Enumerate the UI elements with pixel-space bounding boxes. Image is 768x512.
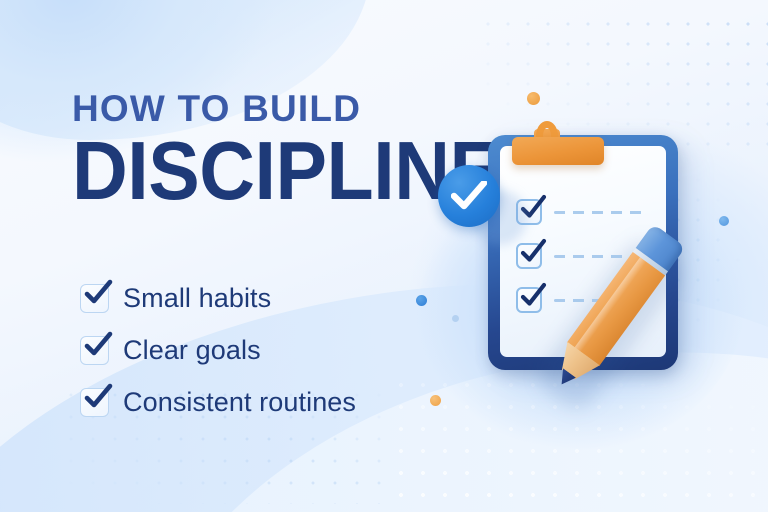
kicker-text: HOW TO BUILD bbox=[72, 90, 432, 127]
checkbox-icon bbox=[516, 243, 542, 269]
clipboard-clip bbox=[512, 137, 604, 165]
benefit-list: Small habits Clear goals Consistent rout… bbox=[80, 272, 480, 428]
list-item: Consistent routines bbox=[80, 376, 480, 428]
verified-check-badge-icon bbox=[438, 165, 500, 227]
list-item-label: Consistent routines bbox=[123, 387, 356, 418]
list-item-label: Clear goals bbox=[123, 335, 261, 366]
page-title: DISCIPLINE bbox=[72, 133, 407, 209]
dashed-line-icon bbox=[554, 211, 642, 214]
checkbox-icon bbox=[80, 284, 109, 313]
checklist-row bbox=[516, 199, 642, 225]
list-item-label: Small habits bbox=[123, 283, 271, 314]
poster-canvas: HOW TO BUILD DISCIPLINE Small habits Cle… bbox=[0, 0, 768, 512]
list-item: Small habits bbox=[80, 272, 480, 324]
headline-block: HOW TO BUILD DISCIPLINE bbox=[72, 90, 432, 209]
checkbox-icon bbox=[80, 388, 109, 417]
checkbox-icon bbox=[516, 287, 542, 313]
checkbox-icon bbox=[80, 336, 109, 365]
clipboard-checklist-illustration bbox=[430, 95, 760, 425]
list-item: Clear goals bbox=[80, 324, 480, 376]
